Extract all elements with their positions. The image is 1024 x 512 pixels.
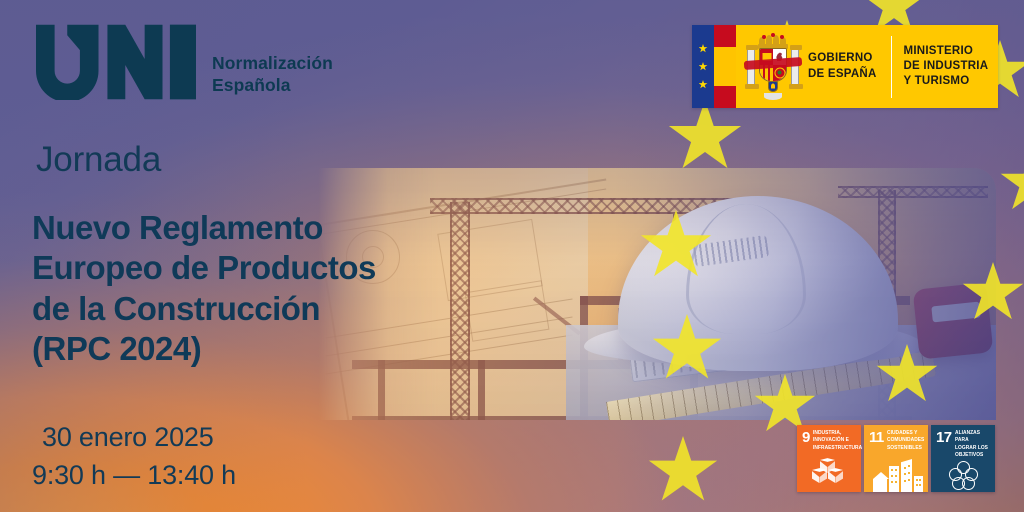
event-datetime: 30 enero 2025 9:30 h — 13:40 h [32,418,236,495]
sdg-label: CIUDADES Y COMUNIDADES SOSTENIBLES [887,430,924,452]
event-kicker: Jornada [36,142,161,177]
une-logo[interactable]: Normalización Española [36,24,333,100]
escutcheon-icon [768,81,778,92]
city-buildings-icon [869,452,923,492]
eu-flag-strip [692,25,714,108]
event-date: 30 enero 2025 [32,418,236,456]
crown-icon [758,35,788,49]
sdg-goal-9[interactable]: 9 INDUSTRIA, INNOVACIÓN E INFRAESTRUCTUR… [797,425,861,492]
spanish-coat-of-arms-icon [744,35,802,99]
sdg-number: 9 [802,430,810,445]
eu-star-small-icon [699,80,708,89]
sdg-number: 17 [936,430,952,445]
pomegranate-icon [764,93,782,100]
sdg-goals-row: 9 INDUSTRIA, INNOVACIÓN E INFRAESTRUCTUR… [797,425,995,492]
une-tagline: Normalización Española [212,52,333,97]
sdg-goal-17[interactable]: 17 ALIANZAS PARA LOGRAR LOS OBJETIVOS [931,425,995,492]
gobierno-line2: DE ESPAÑA [808,67,877,82]
interlocking-circles-icon [936,460,990,493]
gobierno-de-espana-text: GOBIERNO DE ESPAÑA [802,51,877,82]
sdg-goal-11[interactable]: 11 CIUDADES Y COMUNIDADES SOSTENIBLES [864,425,928,492]
spain-flag-strip [714,25,736,108]
une-tagline-line1: Normalización [212,52,333,74]
une-wordmark-icon [36,24,196,100]
cubes-icon [802,452,856,492]
event-title: Nuevo Reglamento Europeo de Productos de… [32,208,442,369]
eu-star-small-icon [699,62,708,71]
une-tagline-line2: Española [212,74,333,96]
gobierno-line1: GOBIERNO [808,51,877,66]
event-title-line3: de la Construcción [32,289,442,329]
ministerio-line1: MINISTERIO [904,44,989,59]
event-time: 9:30 h — 13:40 h [32,456,236,494]
ministerio-line3: Y TURISMO [904,74,989,89]
ministerio-line2: DE INDUSTRIA [904,59,989,74]
sdg-number: 11 [869,430,884,445]
sdg-label: ALIANZAS PARA LOGRAR LOS OBJETIVOS [955,430,988,460]
event-title-line4: (RPC 2024) [32,329,442,369]
badge-divider [891,36,892,98]
government-badge[interactable]: GOBIERNO DE ESPAÑA MINISTERIO DE INDUSTR… [692,25,998,108]
event-banner: Normalización Española Jornada Nuevo Reg… [0,0,1024,512]
event-title-line1: Nuevo Reglamento [32,208,442,248]
ministerio-text: MINISTERIO DE INDUSTRIA Y TURISMO [904,44,989,90]
event-title-line2: Europeo de Productos [32,248,442,288]
eu-star-small-icon [699,44,708,53]
eu-spain-flag-icon [692,25,736,108]
sdg-label: INDUSTRIA, INNOVACIÓN E INFRAESTRUCTURA [813,430,862,452]
